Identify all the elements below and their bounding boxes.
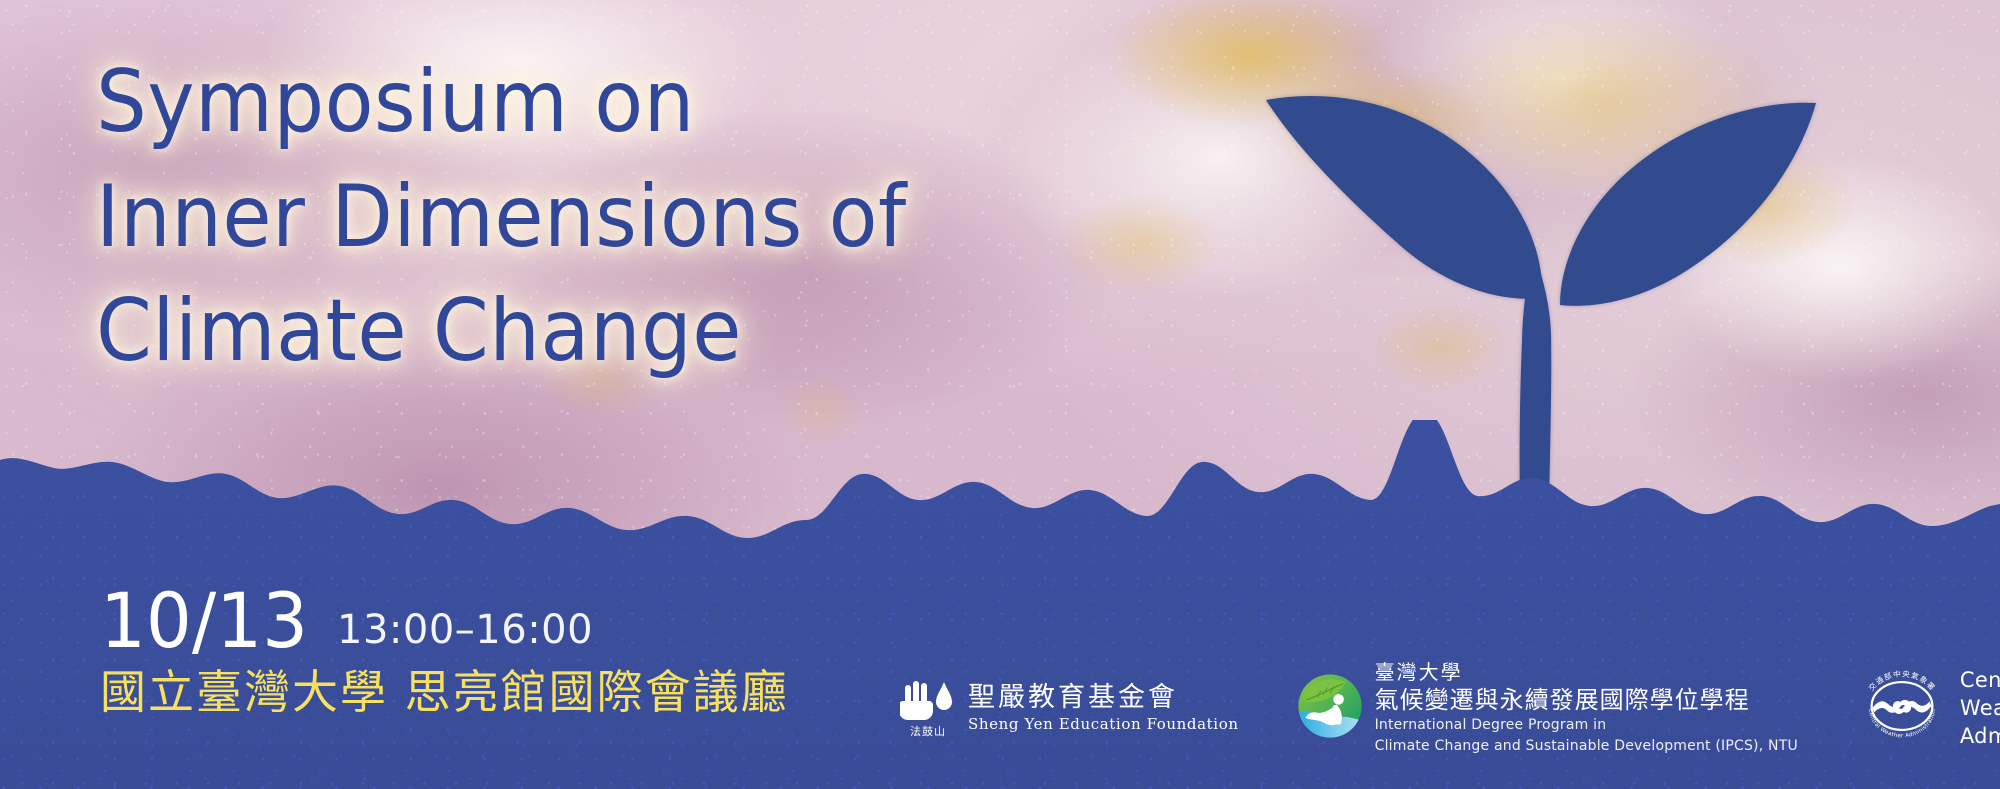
event-poster: Symposium on Inner Dimensions of Climate… [0, 0, 2000, 789]
event-date: 10/13 [100, 585, 308, 658]
sponsor-logo-row: 法鼓山 聖嚴教育基金會 Sheng Yen Education Foundati… [900, 648, 1960, 768]
ipcs-name-en2: Climate Change and Sustainable Developme… [1375, 736, 1798, 756]
logo-central-weather-administration: 交通部中央氣象署 Central Weather Administration … [1856, 660, 2000, 757]
logo-ipcs-ntu: 臺灣大學 氣候變遷與永續發展國際學位學程 International Degre… [1297, 660, 1798, 756]
date-time-row: 10/13 13:00–16:00 [100, 585, 789, 658]
ipcs-text: 臺灣大學 氣候變遷與永續發展國際學位學程 International Degre… [1375, 660, 1798, 756]
event-details: 10/13 13:00–16:00 國立臺灣大學 思亮館國際會議廳 [100, 585, 789, 719]
sheng-yen-text: 聖嚴教育基金會 Sheng Yen Education Foundation [968, 683, 1239, 733]
logo-sheng-yen-education-foundation: 法鼓山 聖嚴教育基金會 Sheng Yen Education Foundati… [900, 679, 1239, 737]
cwa-seal-cn: 交通部中央氣象署 [1866, 668, 1937, 692]
page-title: Symposium on Inner Dimensions of Climate… [96, 52, 1056, 382]
dharma-drum-mountain-label: 法鼓山 [910, 726, 946, 737]
cwa-name-line2: Weather [1960, 694, 2000, 722]
ipcs-name-cn2: 氣候變遷與永續發展國際學位學程 [1375, 685, 1798, 715]
event-venue: 國立臺灣大學 思亮館國際會議廳 [100, 666, 789, 719]
cwa-text: Central Weather Administration [1960, 666, 2000, 750]
svg-text:交通部中央氣象署: 交通部中央氣象署 [1866, 668, 1937, 692]
cwa-name-line1: Central [1960, 666, 2000, 694]
ipcs-globe-leaf-icon [1297, 673, 1363, 744]
ipcs-name-en1: International Degree Program in [1375, 715, 1798, 735]
title-line-1: Symposium on [96, 52, 989, 153]
cwa-seal-icon: 交通部中央氣象署 Central Weather Administration [1856, 660, 1948, 757]
title-line-3: Climate Change [96, 281, 989, 382]
dharma-drum-hand-icon: 法鼓山 [900, 679, 956, 737]
event-time: 13:00–16:00 [337, 610, 593, 658]
ipcs-name-cn1: 臺灣大學 [1375, 660, 1798, 685]
sheng-yen-name-cn: 聖嚴教育基金會 [968, 683, 1239, 713]
cwa-name-line3: Administration [1960, 722, 2000, 750]
sheng-yen-name-en: Sheng Yen Education Foundation [968, 715, 1239, 733]
title-line-2: Inner Dimensions of [96, 167, 989, 268]
